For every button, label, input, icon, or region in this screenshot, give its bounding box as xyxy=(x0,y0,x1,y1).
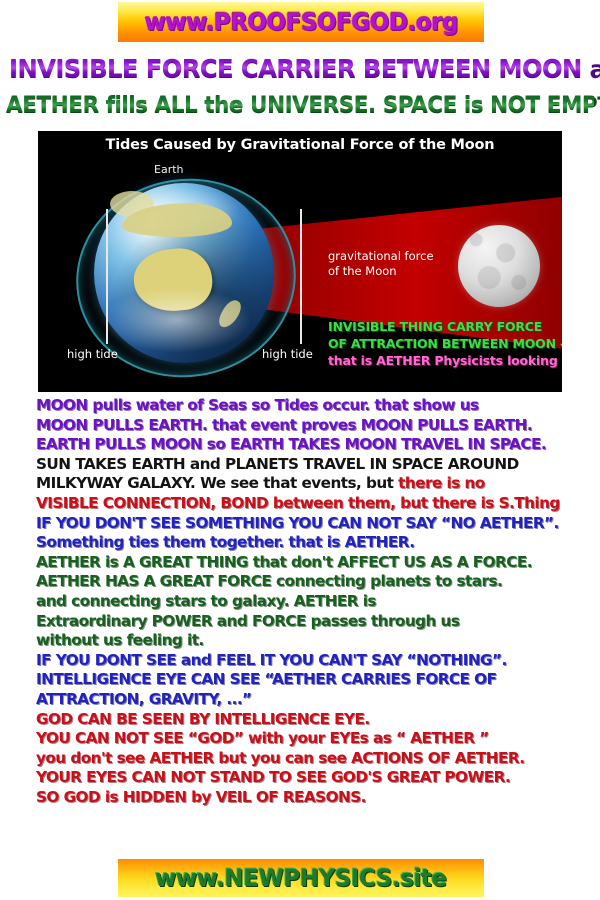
body-line-7: IF YOU DON'T SEE SOMETHING YOU CAN NOT S… xyxy=(36,514,596,534)
body-line-17-text: GOD CAN BE SEEN BY INTELLIGENCE EYE. xyxy=(36,710,370,728)
body-line-13: without us feeling it. xyxy=(36,631,596,651)
figure-title: Tides Caused by Gravitational Force of t… xyxy=(38,137,562,153)
body-line-5-segment-2: there is no xyxy=(398,474,485,492)
earth-cloud-south-icon xyxy=(102,287,252,353)
body-line-3-text: EARTH PULLS MOON so EARTH TAKES MOON TRA… xyxy=(36,435,546,453)
body-line-5-segment-1: MILKYWAY GALAXY. We see that events, but xyxy=(36,474,398,492)
body-line-21-text: SO GOD is HIDDEN by VEIL OF REASONS. xyxy=(36,788,366,806)
body-line-6: VISIBLE CONNECTION, BOND between them, b… xyxy=(36,494,596,514)
body-line-10-text: AETHER HAS A GREAT FORCE connecting plan… xyxy=(36,572,502,590)
high-tide-marker-left-icon xyxy=(106,209,108,344)
earth-globe-icon xyxy=(94,183,274,363)
headline-primary: INVISIBLE FORCE CARRIER BETWEEN MOON and… xyxy=(9,54,591,83)
body-line-19-text: you don't see AETHER but you can see ACT… xyxy=(36,749,525,767)
body-line-21: SO GOD is HIDDEN by VEIL OF REASONS. xyxy=(36,788,596,808)
body-line-12-text: Extraordinary POWER and FORCE passes thr… xyxy=(36,612,459,630)
body-line-14-text: IF YOU DONT SEE and FEEL IT YOU CAN'T SA… xyxy=(36,651,507,669)
moon-globe-icon xyxy=(458,225,540,307)
headline-secondary: AETHER fills ALL the UNIVERSE. SPACE is … xyxy=(6,93,594,118)
body-text-block: MOON pulls water of Seas so Tides occur.… xyxy=(36,396,596,807)
body-line-11-text: and connecting stars to galaxy. AETHER i… xyxy=(36,592,376,610)
body-line-5: MILKYWAY GALAXY. We see that events, but… xyxy=(36,474,596,494)
body-line-20-text: YOUR EYES CAN NOT STAND TO SEE GOD'S GRE… xyxy=(36,768,510,786)
panel-caption-line-1: INVISIBLE THING CARRY FORCE xyxy=(328,318,562,335)
gravitational-force-label: gravitational force of the Moon xyxy=(328,249,434,279)
body-line-11: and connecting stars to galaxy. AETHER i… xyxy=(36,592,596,612)
tides-diagram-panel: Tides Caused by Gravitational Force of t… xyxy=(38,131,562,392)
body-line-8: Something ties them together. that is AE… xyxy=(36,533,596,553)
high-tide-marker-right-icon xyxy=(300,209,302,344)
body-line-2-text: MOON PULLS EARTH. that event proves MOON… xyxy=(36,416,532,434)
body-line-12: Extraordinary POWER and FORCE passes thr… xyxy=(36,612,596,632)
body-line-18: YOU CAN NOT SEE “GOD” with your EYEs as … xyxy=(36,729,596,749)
high-tide-label-right: high tide xyxy=(262,347,313,361)
body-line-4-text: SUN TAKES EARTH and PLANETS TRAVEL IN SP… xyxy=(36,455,519,473)
body-line-9: AETHER is A GREAT THING that don't AFFEC… xyxy=(36,553,596,573)
body-line-4: SUN TAKES EARTH and PLANETS TRAVEL IN SP… xyxy=(36,455,596,475)
body-line-8-text: Something ties them together. that is AE… xyxy=(36,533,414,551)
body-line-2: MOON PULLS EARTH. that event proves MOON… xyxy=(36,416,596,436)
body-line-1-text: MOON pulls water of Seas so Tides occur.… xyxy=(36,396,479,414)
body-line-7-text: IF YOU DON'T SEE SOMETHING YOU CAN NOT S… xyxy=(36,514,559,532)
body-line-10: AETHER HAS A GREAT FORCE connecting plan… xyxy=(36,572,596,592)
body-line-9-text: AETHER is A GREAT THING that don't AFFEC… xyxy=(36,553,532,571)
body-line-17: GOD CAN BE SEEN BY INTELLIGENCE EYE. xyxy=(36,710,596,730)
body-line-6-text: VISIBLE CONNECTION, BOND between them, b… xyxy=(36,494,560,512)
panel-overlay-caption: INVISIBLE THING CARRY FORCEOF ATTRACTION… xyxy=(328,318,562,369)
top-banner-url[interactable]: www.PROOFSOFGOD.org xyxy=(144,8,458,36)
body-line-15: INTELLIGENCE EYE CAN SEE “AETHER CARRIES… xyxy=(36,670,596,690)
panel-caption-line-3: that is AETHER Physicists looking for.. xyxy=(328,352,562,369)
body-line-3: EARTH PULLS MOON so EARTH TAKES MOON TRA… xyxy=(36,435,596,455)
bottom-banner-url[interactable]: www.NEWPHYSICS.site xyxy=(155,864,446,892)
gravitational-force-label-line2: of the Moon xyxy=(328,264,397,278)
body-line-13-text: without us feeling it. xyxy=(36,631,204,649)
gravitational-force-label-line1: gravitational force xyxy=(328,249,434,263)
body-line-15-text: INTELLIGENCE EYE CAN SEE “AETHER CARRIES… xyxy=(36,670,496,688)
top-banner: www.PROOFSOFGOD.org xyxy=(118,2,484,42)
body-line-14: IF YOU DONT SEE and FEEL IT YOU CAN'T SA… xyxy=(36,651,596,671)
body-line-16-text: ATTRACTION, GRAVITY, ...” xyxy=(36,690,252,708)
high-tide-label-left: high tide xyxy=(67,347,118,361)
body-line-18-text: YOU CAN NOT SEE “GOD” with your EYEs as … xyxy=(36,729,489,747)
body-line-20: YOUR EYES CAN NOT STAND TO SEE GOD'S GRE… xyxy=(36,768,596,788)
body-line-19: you don't see AETHER but you can see ACT… xyxy=(36,749,596,769)
body-line-1: MOON pulls water of Seas so Tides occur.… xyxy=(36,396,596,416)
body-line-16: ATTRACTION, GRAVITY, ...” xyxy=(36,690,596,710)
bottom-banner: www.NEWPHYSICS.site xyxy=(118,859,484,897)
earth-label: Earth xyxy=(154,163,184,176)
panel-caption-line-2: OF ATTRACTION BETWEEN MOON - EARTH xyxy=(328,335,562,352)
